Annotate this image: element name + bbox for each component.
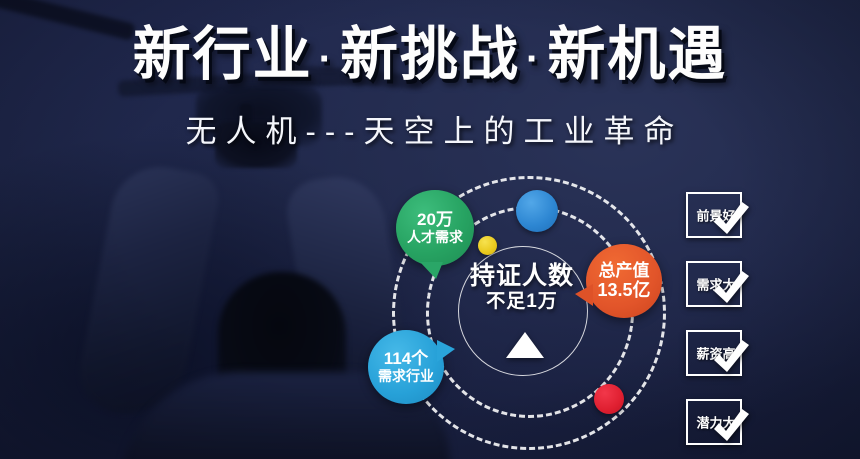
bubble-total-output[interactable]: 总产值 13.5亿 (586, 244, 662, 318)
yellow-dot-icon (478, 236, 497, 255)
check-icon (708, 334, 752, 378)
check-icon (708, 196, 752, 240)
benefits-checklist: 前景好 需求大 薪资高 潜力大 (686, 192, 806, 459)
blue-dot-icon (516, 190, 558, 232)
poster-canvas: 新行业·新挑战·新机遇 无人机---天空上的工业革命 持证人数 不足1万 20万… (0, 0, 860, 459)
page-subtitle: 无人机---天空上的工业革命 (0, 106, 860, 151)
headline-part-3: 新机遇 (547, 22, 727, 87)
core-stat-line1: 持证人数 (448, 262, 596, 290)
checklist-item-prospects[interactable]: 前景好 (686, 192, 742, 238)
page-title: 新行业·新挑战·新机遇 (0, 26, 860, 84)
checklist-item-salary[interactable]: 薪资高 (686, 330, 742, 376)
red-dot-icon (594, 384, 624, 414)
triangle-marker-icon (506, 332, 544, 358)
check-icon (708, 403, 752, 447)
check-icon (708, 265, 752, 309)
bubble-talent-demand-label: 人才需求 (407, 229, 463, 246)
bubble-total-output-value: 13.5亿 (597, 280, 650, 302)
bubble-total-output-label: 总产值 (599, 261, 650, 280)
core-stat: 持证人数 不足1万 (448, 262, 596, 315)
headline-separator-2: · (520, 37, 547, 81)
headline-separator-1: · (313, 37, 340, 81)
orbit-infographic: 持证人数 不足1万 20万 人才需求 114个 需求行业 总产值 13.5亿 (370, 170, 670, 455)
bubble-talent-demand[interactable]: 20万 人才需求 (396, 190, 474, 266)
core-stat-line2: 不足1万 (448, 290, 596, 315)
bubble-industry-count[interactable]: 114个 需求行业 (368, 330, 444, 404)
bubble-talent-demand-value: 20万 (417, 210, 453, 229)
headline-part-2: 新挑战 (340, 22, 520, 87)
bubble-industry-count-value: 114个 (384, 349, 428, 368)
headline-part-1: 新行业 (133, 22, 313, 87)
checklist-item-potential[interactable]: 潜力大 (686, 399, 742, 445)
checklist-item-demand[interactable]: 需求大 (686, 261, 742, 307)
bubble-industry-count-label: 需求行业 (378, 368, 434, 385)
